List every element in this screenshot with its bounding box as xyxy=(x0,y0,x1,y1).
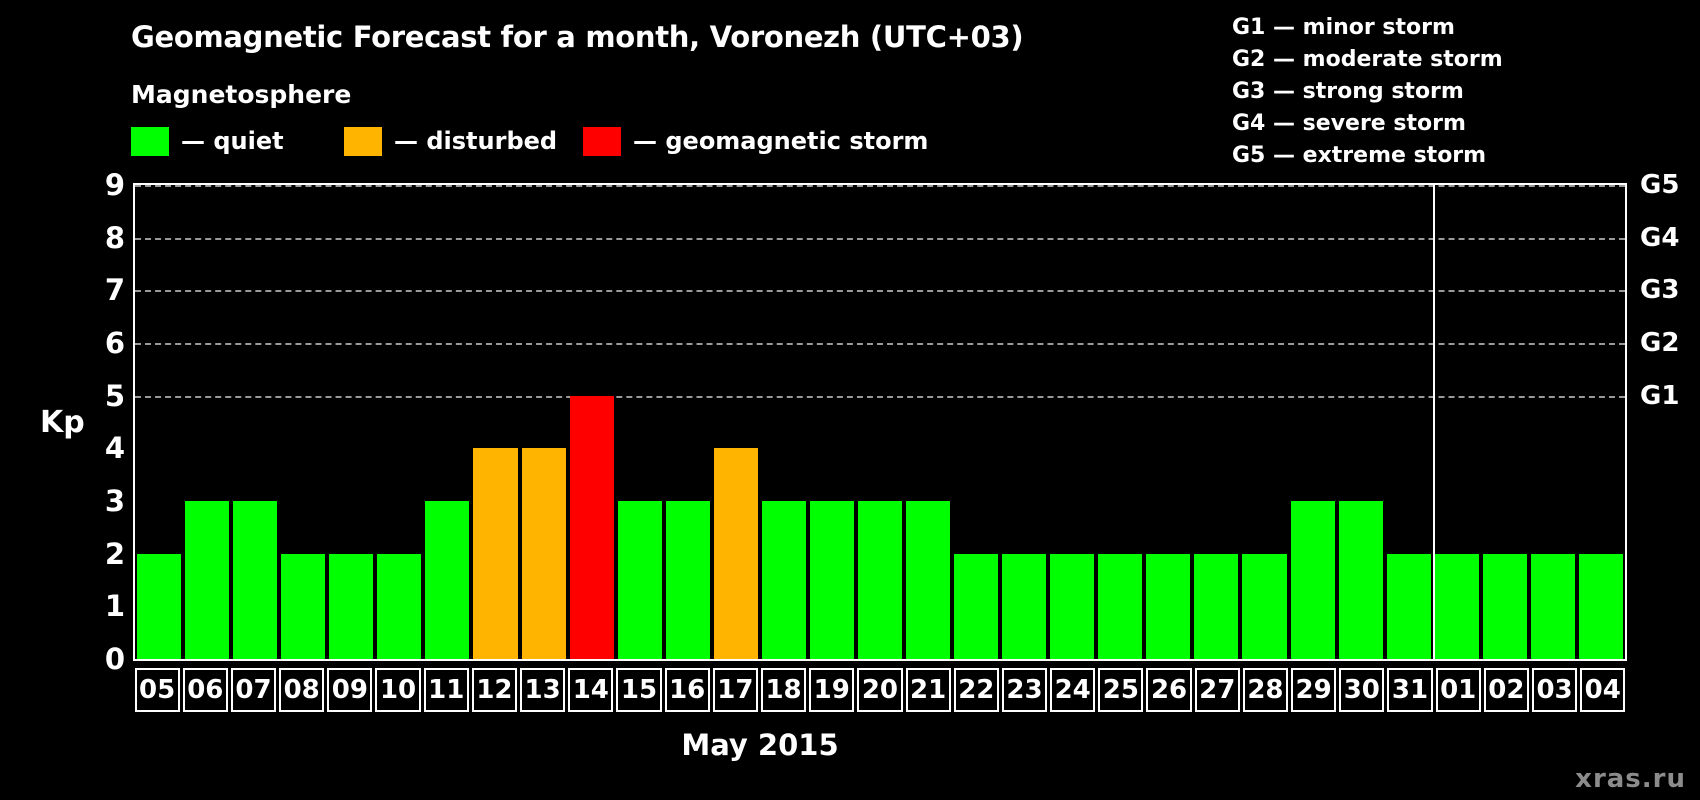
bar-20[interactable] xyxy=(858,501,902,659)
legend-label-disturbed: — disturbed xyxy=(394,127,557,155)
bar-08[interactable] xyxy=(281,554,325,659)
bar-17[interactable] xyxy=(714,448,758,659)
bar-slot-26[interactable] xyxy=(1144,185,1192,659)
g-scale-line-2: G2 — moderate storm xyxy=(1232,44,1503,76)
legend-label-quiet: — quiet xyxy=(181,127,284,155)
x-axis-title-text: May 2015 xyxy=(681,728,838,762)
bar-slot-08[interactable] xyxy=(279,185,327,659)
bar-03[interactable] xyxy=(1531,554,1575,659)
bar-27[interactable] xyxy=(1194,554,1238,659)
bar-slot-31[interactable] xyxy=(1385,185,1433,659)
bar-24[interactable] xyxy=(1050,554,1094,659)
bar-slot-07[interactable] xyxy=(231,185,279,659)
legend-swatch-quiet xyxy=(131,127,169,156)
x-axis-title: May 2015 xyxy=(0,728,1700,762)
x-axis-day-labels: 0506070809101112131415161718192021222324… xyxy=(133,668,1627,712)
bar-28[interactable] xyxy=(1242,554,1286,659)
bar-slot-21[interactable] xyxy=(904,185,952,659)
day-label-15[interactable]: 15 xyxy=(616,668,661,712)
day-label-29[interactable]: 29 xyxy=(1291,668,1336,712)
y-tick-5: 5 xyxy=(105,379,125,413)
bar-slot-18[interactable] xyxy=(760,185,808,659)
day-label-23[interactable]: 23 xyxy=(1002,668,1047,712)
y-tick-0: 0 xyxy=(105,642,125,676)
day-label-16[interactable]: 16 xyxy=(665,668,710,712)
g-tick-G3: G3 xyxy=(1640,275,1679,305)
bar-10[interactable] xyxy=(377,554,421,659)
plot-inner xyxy=(135,185,1625,659)
day-label-09[interactable]: 09 xyxy=(327,668,372,712)
day-label-05[interactable]: 05 xyxy=(135,668,180,712)
bar-01[interactable] xyxy=(1435,554,1479,659)
legend-swatch-geomagnetic-storm xyxy=(583,127,621,156)
bar-slot-24[interactable] xyxy=(1048,185,1096,659)
day-label-18[interactable]: 18 xyxy=(761,668,806,712)
bar-09[interactable] xyxy=(329,554,373,659)
y-tick-6: 6 xyxy=(105,326,125,360)
bar-slot-09[interactable] xyxy=(327,185,375,659)
day-label-21[interactable]: 21 xyxy=(906,668,951,712)
g-scale-line-5: G5 — extreme storm xyxy=(1232,140,1503,172)
y-axis-tick-labels: 0123456789 xyxy=(60,183,125,661)
legend-label-geomagnetic-storm: — geomagnetic storm xyxy=(633,127,928,155)
day-label-14[interactable]: 14 xyxy=(568,668,613,712)
bar-13[interactable] xyxy=(522,448,566,659)
y-tick-4: 4 xyxy=(105,431,125,465)
day-label-06[interactable]: 06 xyxy=(183,668,228,712)
bar-04[interactable] xyxy=(1579,554,1623,659)
bar-slot-15[interactable] xyxy=(616,185,664,659)
y-tick-1: 1 xyxy=(105,589,125,623)
bar-16[interactable] xyxy=(666,501,710,659)
plot-area xyxy=(133,183,1627,661)
bar-21[interactable] xyxy=(906,501,950,659)
bar-25[interactable] xyxy=(1098,554,1142,659)
bar-slot-28[interactable] xyxy=(1240,185,1288,659)
day-label-24[interactable]: 24 xyxy=(1050,668,1095,712)
day-label-27[interactable]: 27 xyxy=(1195,668,1240,712)
bar-slot-11[interactable] xyxy=(423,185,471,659)
day-label-02[interactable]: 02 xyxy=(1484,668,1529,712)
bar-31[interactable] xyxy=(1387,554,1431,659)
day-label-07[interactable]: 07 xyxy=(231,668,276,712)
bar-slot-29[interactable] xyxy=(1289,185,1337,659)
day-label-17[interactable]: 17 xyxy=(713,668,758,712)
day-label-01[interactable]: 01 xyxy=(1436,668,1481,712)
bar-07[interactable] xyxy=(233,501,277,659)
bar-slot-10[interactable] xyxy=(375,185,423,659)
day-label-26[interactable]: 26 xyxy=(1146,668,1191,712)
day-label-19[interactable]: 19 xyxy=(809,668,854,712)
day-label-11[interactable]: 11 xyxy=(424,668,469,712)
legend-entry-disturbed: — disturbed xyxy=(344,126,557,156)
g-tick-G1: G1 xyxy=(1640,381,1679,411)
bar-slot-19[interactable] xyxy=(808,185,856,659)
bar-11[interactable] xyxy=(425,501,469,659)
day-label-25[interactable]: 25 xyxy=(1098,668,1143,712)
day-label-10[interactable]: 10 xyxy=(375,668,420,712)
day-label-30[interactable]: 30 xyxy=(1339,668,1384,712)
y-tick-7: 7 xyxy=(105,273,125,307)
day-label-13[interactable]: 13 xyxy=(520,668,565,712)
bar-slot-04[interactable] xyxy=(1577,185,1625,659)
bar-slot-01[interactable] xyxy=(1433,185,1481,659)
legend-entry-quiet: — quiet xyxy=(131,126,284,156)
bars-layer xyxy=(135,185,1625,659)
y-tick-9: 9 xyxy=(105,168,125,202)
day-label-04[interactable]: 04 xyxy=(1580,668,1625,712)
bar-slot-05[interactable] xyxy=(135,185,183,659)
y-tick-8: 8 xyxy=(105,221,125,255)
g-tick-G2: G2 xyxy=(1640,328,1679,358)
bar-slot-22[interactable] xyxy=(952,185,1000,659)
bar-slot-12[interactable] xyxy=(471,185,519,659)
g-scale-legend: G1 — minor stormG2 — moderate stormG3 — … xyxy=(1232,12,1503,172)
bar-slot-06[interactable] xyxy=(183,185,231,659)
bar-22[interactable] xyxy=(954,554,998,659)
y-tick-3: 3 xyxy=(105,484,125,518)
bar-slot-27[interactable] xyxy=(1192,185,1240,659)
g-scale-line-3: G3 — strong storm xyxy=(1232,76,1503,108)
bar-slot-16[interactable] xyxy=(664,185,712,659)
today-divider-line xyxy=(1433,185,1435,659)
day-label-22[interactable]: 22 xyxy=(954,668,999,712)
day-label-28[interactable]: 28 xyxy=(1243,668,1288,712)
g-scale-line-1: G1 — minor storm xyxy=(1232,12,1503,44)
g-axis-tick-labels: G1G2G3G4G5 xyxy=(1640,183,1700,661)
bar-slot-17[interactable] xyxy=(712,185,760,659)
bar-29[interactable] xyxy=(1291,501,1335,659)
g-scale-line-4: G4 — severe storm xyxy=(1232,108,1503,140)
day-label-08[interactable]: 08 xyxy=(279,668,324,712)
magnetosphere-heading: Magnetosphere xyxy=(131,80,351,109)
legend-swatch-disturbed xyxy=(344,127,382,156)
bar-14[interactable] xyxy=(570,396,614,659)
bar-slot-23[interactable] xyxy=(1000,185,1048,659)
bar-15[interactable] xyxy=(618,501,662,659)
bar-slot-20[interactable] xyxy=(856,185,904,659)
day-label-31[interactable]: 31 xyxy=(1387,668,1432,712)
day-label-12[interactable]: 12 xyxy=(472,668,517,712)
bar-05[interactable] xyxy=(137,554,181,659)
bar-23[interactable] xyxy=(1002,554,1046,659)
day-label-03[interactable]: 03 xyxy=(1532,668,1577,712)
bar-06[interactable] xyxy=(185,501,229,659)
bar-slot-25[interactable] xyxy=(1096,185,1144,659)
day-label-20[interactable]: 20 xyxy=(857,668,902,712)
y-tick-2: 2 xyxy=(105,537,125,571)
bar-slot-14[interactable] xyxy=(568,185,616,659)
bar-slot-30[interactable] xyxy=(1337,185,1385,659)
bar-12[interactable] xyxy=(473,448,517,659)
watermark: xras.ru xyxy=(1575,764,1686,794)
g-tick-G4: G4 xyxy=(1640,223,1679,253)
bar-02[interactable] xyxy=(1483,554,1527,659)
bar-26[interactable] xyxy=(1146,554,1190,659)
bar-30[interactable] xyxy=(1339,501,1383,659)
page-title: Geomagnetic Forecast for a month, Vorone… xyxy=(131,20,1023,54)
bar-19[interactable] xyxy=(810,501,854,659)
bar-slot-13[interactable] xyxy=(520,185,568,659)
bar-18[interactable] xyxy=(762,501,806,659)
legend-entry-geomagnetic-storm: — geomagnetic storm xyxy=(583,126,928,156)
bar-slot-03[interactable] xyxy=(1529,185,1577,659)
bar-slot-02[interactable] xyxy=(1481,185,1529,659)
g-tick-G5: G5 xyxy=(1640,170,1679,200)
